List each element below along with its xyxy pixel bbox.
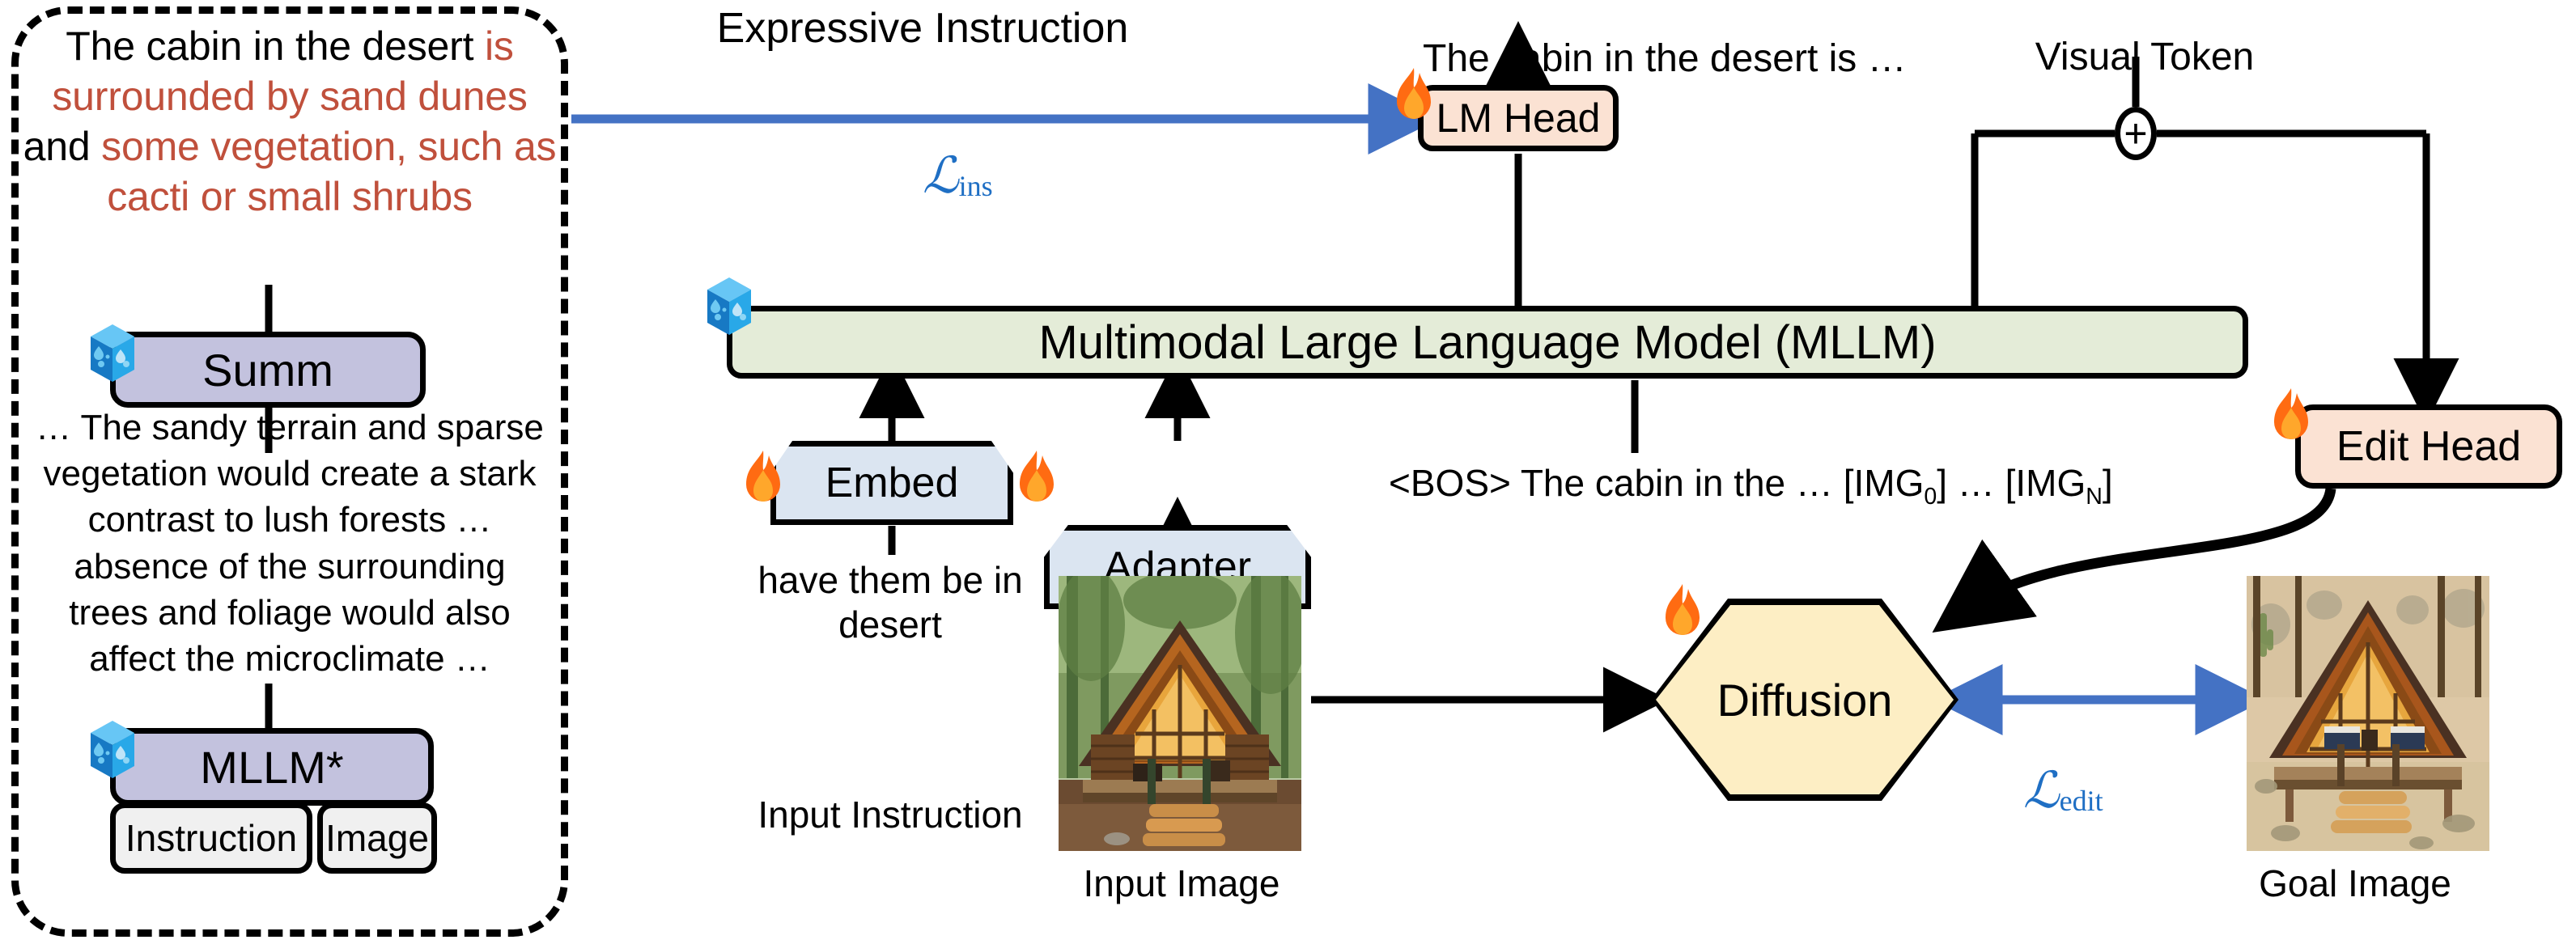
- loss-ins-label: ℒins: [923, 146, 993, 205]
- plus-symbol: +: [2124, 113, 2147, 154]
- image-input-node[interactable]: Image: [317, 802, 437, 874]
- loss-edit-symbol: ℒ: [2023, 760, 2060, 819]
- loss-ins-symbol: ℒ: [923, 146, 959, 205]
- mllm-star-node[interactable]: MLLM*: [110, 728, 434, 806]
- summ-label: Summ: [202, 344, 333, 396]
- mllm-label: Multimodal Large Language Model (MLLM): [1038, 315, 1936, 370]
- edit-head-label: Edit Head: [2336, 422, 2521, 471]
- lm-head-label: LM Head: [1437, 95, 1601, 142]
- token-imgn-subscript: N: [2086, 484, 2103, 510]
- summ-node[interactable]: Summ: [110, 332, 426, 408]
- lm-head-node[interactable]: LM Head: [1418, 85, 1619, 151]
- summary-paragraph: … The sandy terrain and sparse vegetatio…: [32, 404, 547, 682]
- goal-image-thumbnail: [2247, 576, 2489, 851]
- instruction-input-node[interactable]: Instruction: [110, 802, 312, 874]
- edit-head-node[interactable]: Edit Head: [2295, 404, 2562, 489]
- input-instruction-caption: Input Instruction: [728, 793, 1052, 837]
- loss-edit-label: ℒedit: [2023, 760, 2103, 819]
- image-node-label: Image: [325, 816, 429, 860]
- ice-cube-icon: [701, 275, 758, 342]
- lm-output-text: The cabin in the desert is …: [1423, 36, 2151, 81]
- flame-icon: [2266, 387, 2316, 454]
- flame-icon: [1389, 66, 1439, 133]
- plus-operator: +: [2115, 107, 2157, 160]
- token-middle: ] … [IMG: [1937, 462, 2086, 504]
- token-img0-subscript: 0: [1924, 484, 1937, 510]
- instruction-node-label: Instruction: [125, 816, 297, 860]
- input-image-thumbnail: [1059, 576, 1301, 851]
- goal-image-caption: Goal Image: [2185, 861, 2525, 906]
- token-end: ]: [2103, 462, 2113, 504]
- expressive-instruction-title: Expressive Instruction: [672, 3, 1173, 53]
- token-img0: [IMG: [1844, 462, 1925, 504]
- input-image-caption: Input Image: [1012, 861, 1352, 906]
- instruction-highlight-2: some vegetation, such as cacti or small …: [101, 124, 556, 219]
- loss-ins-subscript: ins: [959, 170, 993, 202]
- diffusion-label: Diffusion: [1717, 674, 1893, 726]
- instruction-plain-2: and: [23, 124, 102, 169]
- embed-outline: [770, 441, 1013, 525]
- flame-icon: [1012, 449, 1062, 516]
- diagram-canvas: The cabin in the desert is surrounded by…: [0, 0, 2576, 944]
- ice-cube-icon: [84, 718, 141, 785]
- embed-node[interactable]: Embed: [770, 441, 1013, 525]
- expressive-instruction-sentence: The cabin in the desert is surrounded by…: [21, 21, 558, 222]
- token-sequence-text: <BOS> The cabin in the … [IMG0] … [IMGN]: [1389, 461, 2295, 510]
- instruction-plain-1: The cabin in the desert: [66, 23, 485, 69]
- mllm-node[interactable]: Multimodal Large Language Model (MLLM): [727, 306, 2248, 379]
- mllm-star-label: MLLM*: [200, 741, 343, 794]
- flame-icon: [738, 449, 788, 516]
- input-instruction-text: have them be in desert: [728, 558, 1052, 647]
- ice-cube-icon: [84, 322, 141, 389]
- flame-icon: [1657, 582, 1708, 650]
- loss-edit-subscript: edit: [2060, 785, 2103, 817]
- token-sequence-prefix: <BOS> The cabin in the …: [1389, 462, 1844, 504]
